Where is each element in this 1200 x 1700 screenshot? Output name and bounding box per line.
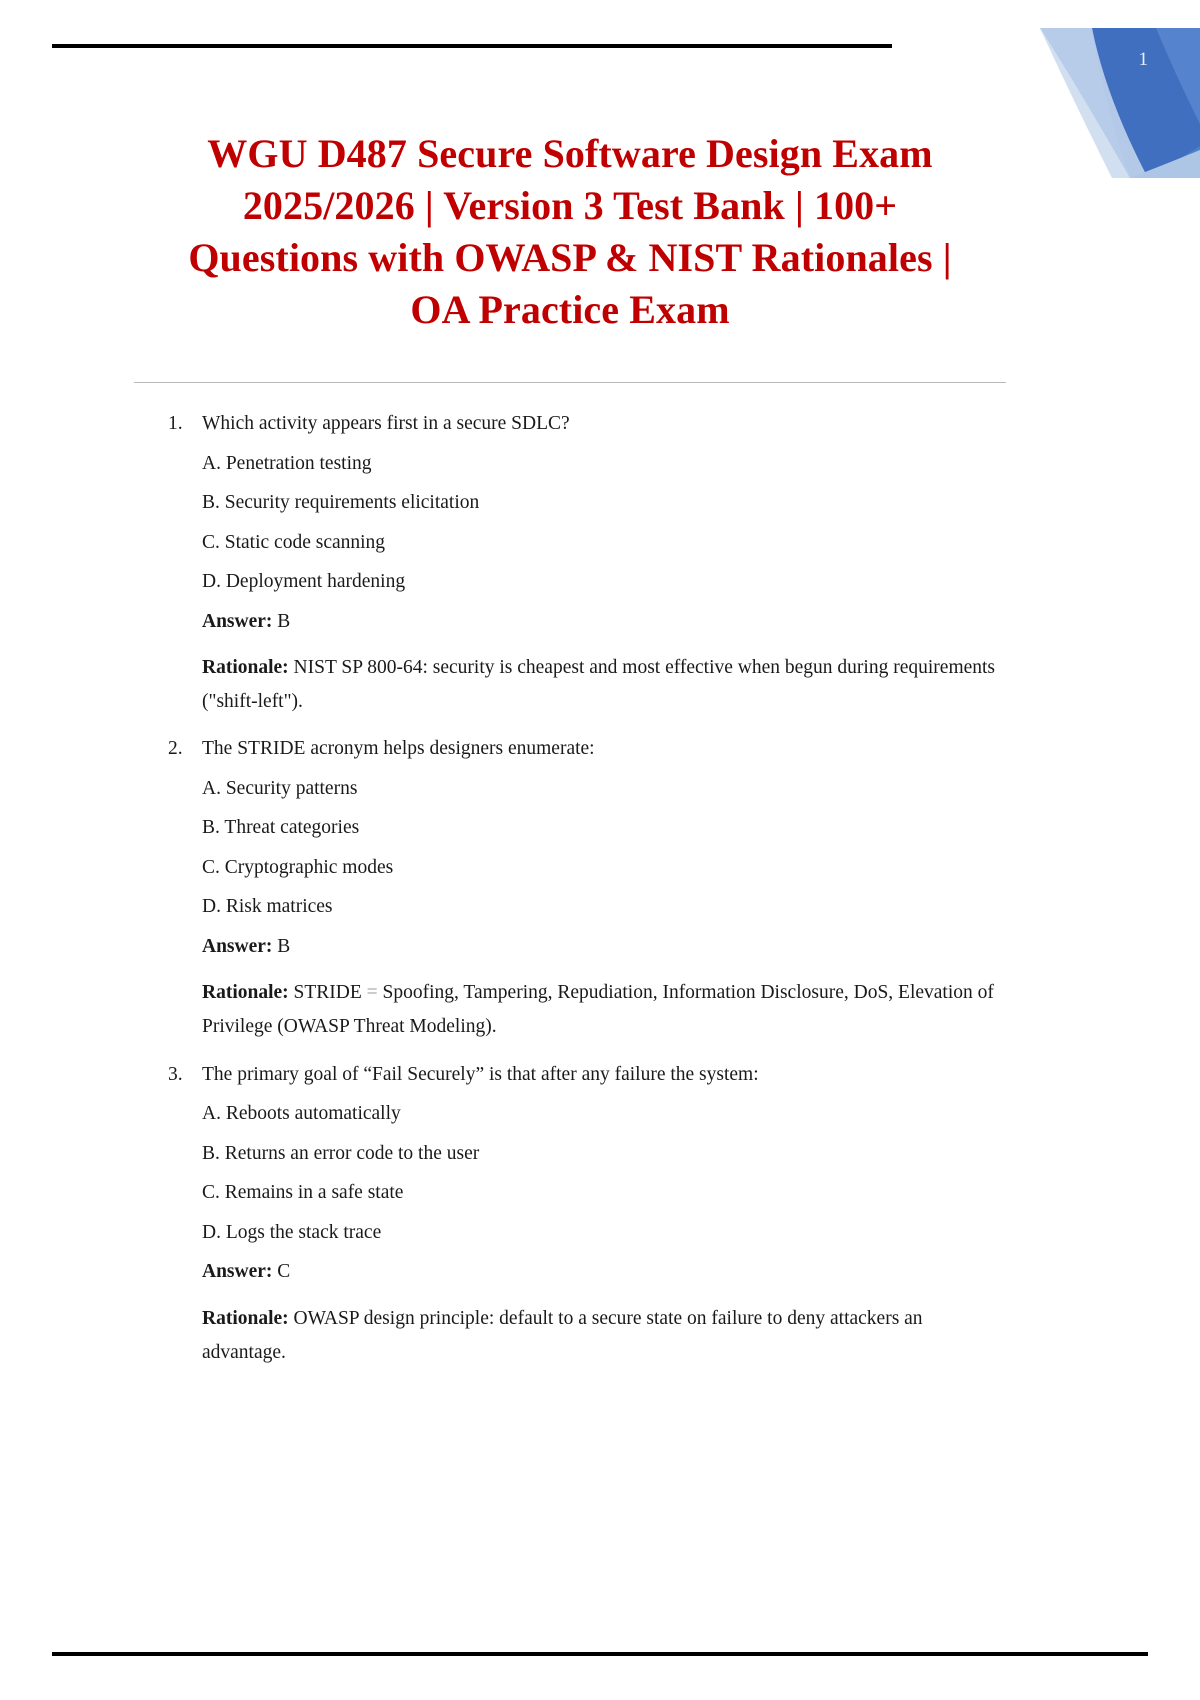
header-rule (52, 44, 892, 48)
option-a[interactable]: A. Reboots automatically (202, 1104, 1008, 1124)
option-c[interactable]: C. Remains in a safe state (202, 1183, 1008, 1203)
questions-list: 1. Which activity appears first in a sec… (166, 414, 1008, 1390)
footer-rule (52, 1652, 1148, 1656)
question-prompt-row: 3. The primary goal of “Fail Securely” i… (166, 1065, 1008, 1085)
question-item: 1. Which activity appears first in a sec… (166, 414, 1008, 719)
question-prompt-row: 2. The STRIDE acronym helps designers en… (166, 739, 1008, 759)
page-title-line-1: WGU D487 Secure Software Design Exam (130, 128, 1010, 180)
option-d[interactable]: D. Logs the stack trace (202, 1223, 1008, 1243)
rationale-text: OWASP design principle: default to a sec… (202, 1308, 923, 1363)
page-title-line-4: OA Practice Exam (130, 284, 1010, 336)
option-b[interactable]: B. Security requirements elicitation (202, 493, 1008, 513)
answer-label: Answer: (202, 611, 272, 632)
question-item: 2. The STRIDE acronym helps designers en… (166, 739, 1008, 1044)
question-item: 3. The primary goal of “Fail Securely” i… (166, 1065, 1008, 1370)
option-d[interactable]: D. Deployment hardening (202, 572, 1008, 592)
rationale-row: Rationale: OWASP design principle: defau… (202, 1302, 1008, 1370)
answer-row: Answer: B (202, 937, 1008, 957)
rationale-row: Rationale: STRIDE = Spoofing, Tampering,… (202, 976, 1008, 1044)
answer-value: B (277, 611, 290, 632)
question-number: 3. (166, 1065, 202, 1085)
answer-value: C (277, 1261, 290, 1282)
answer-row: Answer: B (202, 612, 1008, 632)
page-title-line-2: 2025/2026 | Version 3 Test Bank | 100+ (130, 180, 1010, 232)
question-prompt: The STRIDE acronym helps designers enume… (202, 739, 1008, 759)
question-prompt: Which activity appears first in a secure… (202, 414, 1008, 434)
option-a[interactable]: A. Security patterns (202, 779, 1008, 799)
page-title: WGU D487 Secure Software Design Exam 202… (130, 128, 1010, 336)
rationale-label: Rationale: (202, 1308, 289, 1329)
blue-corner-decoration (980, 28, 1200, 178)
rationale-label: Rationale: (202, 982, 289, 1003)
rationale-text: NIST SP 800-64: security is cheapest and… (202, 657, 995, 712)
rationale-text-pre: STRIDE (294, 982, 362, 1003)
question-prompt: The primary goal of “Fail Securely” is t… (202, 1065, 1008, 1085)
answer-row: Answer: C (202, 1262, 1008, 1282)
option-b[interactable]: B. Returns an error code to the user (202, 1144, 1008, 1164)
option-c[interactable]: C. Static code scanning (202, 533, 1008, 553)
rationale-row: Rationale: NIST SP 800-64: security is c… (202, 651, 1008, 719)
answer-label: Answer: (202, 936, 272, 957)
equals-sign: = (367, 982, 378, 1003)
page-title-line-3: Questions with OWASP & NIST Rationales | (130, 232, 1010, 284)
rationale-label: Rationale: (202, 657, 289, 678)
question-number: 1. (166, 414, 202, 434)
question-prompt-row: 1. Which activity appears first in a sec… (166, 414, 1008, 434)
option-d[interactable]: D. Risk matrices (202, 897, 1008, 917)
title-divider (134, 382, 1006, 383)
answer-label: Answer: (202, 1261, 272, 1282)
option-a[interactable]: A. Penetration testing (202, 454, 1008, 474)
document-page: 1 WGU D487 Secure Software Design Exam 2… (0, 0, 1200, 1700)
option-b[interactable]: B. Threat categories (202, 818, 1008, 838)
answer-value: B (277, 936, 290, 957)
question-number: 2. (166, 739, 202, 759)
option-c[interactable]: C. Cryptographic modes (202, 858, 1008, 878)
page-number: 1 (1139, 50, 1149, 69)
